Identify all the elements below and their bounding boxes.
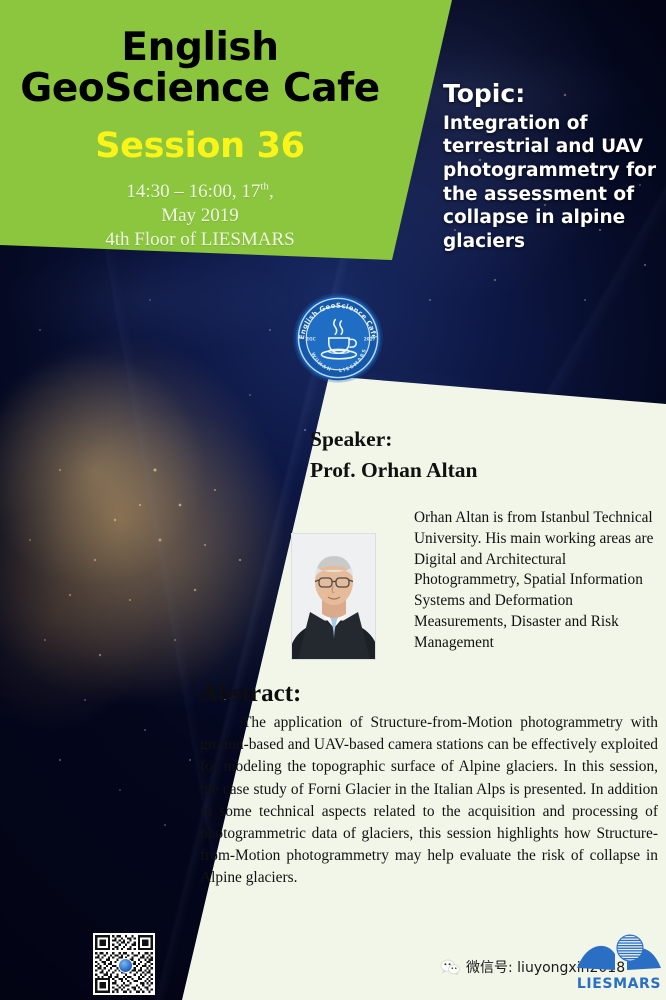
wechat-icon: [440, 959, 460, 976]
poster-title: English GeoScience Cafe: [0, 28, 400, 109]
liesmars-logo-mark: [575, 932, 663, 978]
event-time-suffix: ,: [269, 181, 274, 202]
event-time: 14:30 – 16:00, 17th,: [0, 180, 400, 204]
topic-heading: Topic:: [443, 80, 658, 108]
liesmars-logo-text: LIESMARS: [575, 976, 663, 992]
speaker-name: Prof. Orhan Altan: [310, 455, 640, 486]
abstract-heading: Abstract:: [200, 680, 301, 708]
topic-block: Topic: Integration of terrestrial and UA…: [443, 80, 658, 254]
speaker-bio: Orhan Altan is from Istanbul Technical U…: [414, 508, 664, 654]
topic-body: Integration of terrestrial and UAV photo…: [443, 112, 658, 254]
title-line-1: English: [0, 28, 400, 69]
speaker-photo: [291, 533, 376, 660]
session-number: Session 36: [0, 129, 400, 164]
qr-code[interactable]: [93, 933, 155, 995]
title-line-2: GeoScience Cafe: [0, 69, 400, 110]
poster: English GeoScience Cafe Session 36 14:30…: [0, 0, 666, 1000]
english-geoscience-cafe-badge: English GeoScience Café WUHAN LIESMARS E…: [292, 292, 384, 384]
header-text-block: English GeoScience Cafe Session 36 14:30…: [0, 0, 400, 252]
abstract-body: The application of Structure-from-Motion…: [200, 712, 658, 889]
badge-left-year: EGC: [306, 336, 315, 341]
qr-center-logo: [118, 958, 133, 973]
speaker-block: Speaker: Prof. Orhan Altan: [310, 424, 640, 485]
speaker-portrait-svg: [292, 534, 375, 659]
event-venue: 4th Floor of LIESMARS: [0, 228, 400, 252]
event-time-ordinal: th: [260, 181, 269, 193]
event-meta: 14:30 – 16:00, 17th, May 2019 4th Floor …: [0, 180, 400, 252]
badge-right-year: 2017: [364, 336, 376, 341]
badge-svg: English GeoScience Café WUHAN LIESMARS E…: [292, 292, 384, 384]
event-time-main: 14:30 – 16:00, 17: [126, 181, 260, 202]
event-date: May 2019: [0, 204, 400, 228]
liesmars-logo: LIESMARS: [575, 932, 663, 994]
speaker-label: Speaker:: [310, 424, 640, 455]
